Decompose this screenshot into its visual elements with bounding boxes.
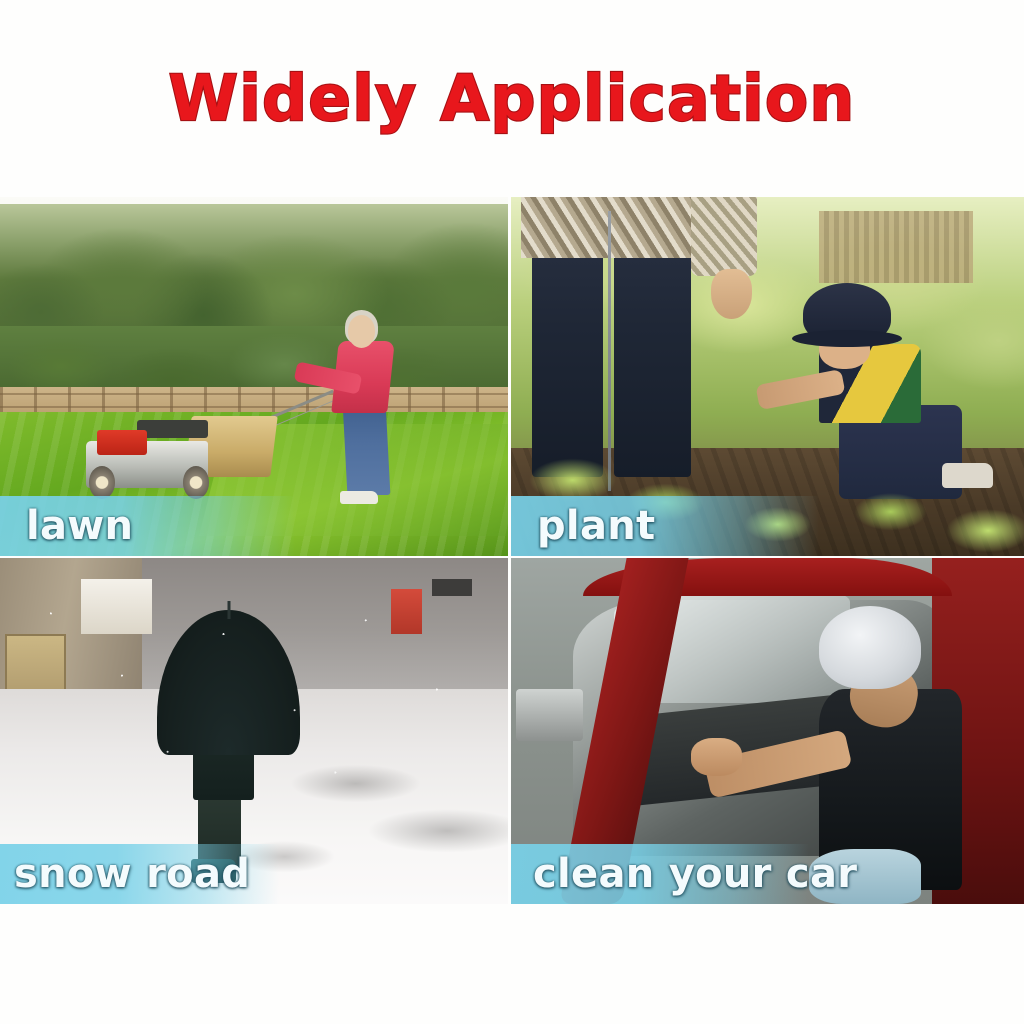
mower-wheel-front	[89, 466, 115, 498]
mower-top-cover	[137, 420, 208, 438]
page-title: Widely Application	[169, 62, 856, 135]
worker-hand	[691, 738, 742, 776]
application-panel-lawn[interactable]: lawn	[0, 197, 511, 558]
child-shoe	[942, 463, 993, 488]
photo-plant	[511, 197, 1024, 556]
building-window	[81, 579, 152, 634]
garden-tool-handle	[608, 211, 611, 491]
photo-clean-your-car	[511, 558, 1024, 904]
photo-snow-road	[0, 558, 508, 904]
person-legs	[343, 402, 391, 495]
person-shoe	[340, 491, 378, 504]
product-application-poster: Widely Application	[0, 0, 1024, 1024]
worker-hair-net	[819, 606, 922, 689]
application-panel-plant[interactable]: plant	[511, 197, 1024, 558]
cleaning-cloth	[809, 849, 922, 904]
mower-wheel-rear	[183, 466, 209, 498]
child-bucket-hat	[803, 283, 890, 344]
adult-arm	[691, 197, 758, 276]
car-side-mirror	[516, 689, 583, 741]
application-panel-clean-your-car[interactable]: clean your car	[511, 558, 1024, 904]
adult-shirt	[521, 197, 706, 258]
mower-engine	[97, 430, 148, 455]
photo-lawn	[0, 197, 508, 556]
application-panel-snow-road[interactable]: snow road	[0, 558, 511, 904]
garden-fence	[819, 211, 973, 283]
poster-header: Widely Application	[0, 0, 1024, 196]
street-sign-red	[391, 589, 421, 634]
application-grid: lawn	[0, 197, 1024, 904]
adult-hand	[711, 269, 752, 319]
street-sign-dark	[432, 579, 473, 596]
person-head	[348, 315, 375, 347]
pedestrian-boots	[191, 859, 237, 883]
